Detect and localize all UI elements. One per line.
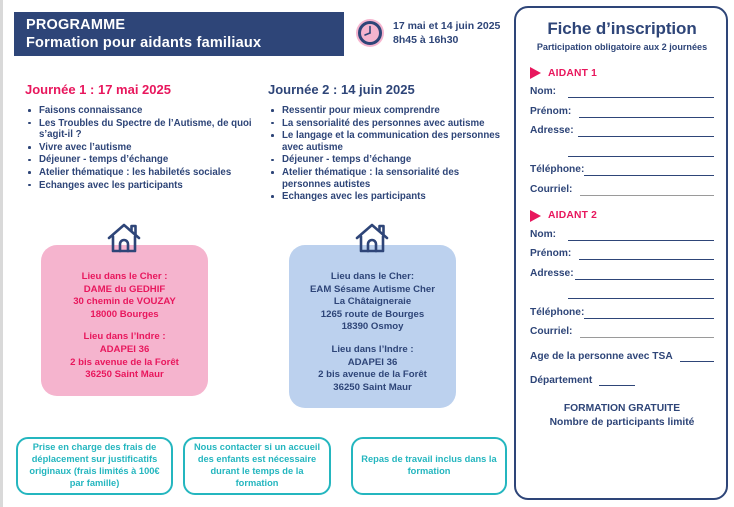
schedule-text: 17 mai et 14 juin 2025 8h45 à 16h30 [393,19,500,47]
form-subtitle: Participation obligatoire aux 2 journées [530,41,714,53]
location-line: 18000 Bourges [47,309,202,322]
field-label: Prénom: [530,106,571,118]
list-item: Atelier thématique : la sensorialité des… [268,167,504,190]
field-label: Age de la personne avec TSA [530,351,673,362]
list-item: Déjeuner - temps d’échange [268,154,504,166]
spacer [295,334,450,344]
house-icon [106,222,142,254]
form-footer-limited: Nombre de participants limité [530,416,714,430]
adresse-input-1-line2[interactable] [568,145,714,157]
location-line: Lieu dans l’Indre : [47,331,202,344]
location-line: 2 bis avenue de la Forêt [295,369,450,382]
prenom-input-2[interactable] [579,248,714,260]
field-telephone-2[interactable]: Téléphone: [530,307,714,319]
schedule-block: 17 mai et 14 juin 2025 8h45 à 16h30 [355,18,500,48]
location-line: 36250 Saint Maur [47,369,202,382]
nom-input-2[interactable] [568,229,714,241]
field-courriel-1[interactable]: Courriel: [530,184,714,196]
location-line: Lieu dans le Cher: [295,271,450,284]
note-text: Prise en charge des frais de déplacement… [18,442,171,489]
aidant-2-heading: AIDANT 2 [530,210,714,222]
list-item: Echanges avec les participants [25,180,261,192]
list-item: Faisons connaissance [25,105,261,117]
list-item: La sensorialité des personnes avec autis… [268,118,504,130]
nom-input-1[interactable] [568,86,714,98]
program-title-line2: Formation pour aidants familiaux [26,34,344,52]
location-line: Lieu dans le Cher : [47,271,202,284]
location-line: 2 bis avenue de la Forêt [47,357,202,370]
program-panel: PROGRAMME Formation pour aidants familia… [3,0,508,507]
aidant-2-label: AIDANT 2 [548,210,597,221]
list-item: Le langage et la communication des perso… [268,130,504,153]
day2-title: Journée 2 : 14 juin 2025 [268,82,504,98]
list-item: Ressentir pour mieux comprendre [268,105,504,117]
field-label: Courriel: [530,184,572,196]
field-label: Courriel: [530,326,572,338]
spacer [47,321,202,331]
field-label: Nom: [530,86,556,98]
location-line: La Châtaigneraie [295,296,450,309]
location-line: EAM Sésame Autisme Cher [295,284,450,297]
aidant-1-heading: AIDANT 1 [530,67,714,79]
triangle-right-icon [530,210,541,222]
field-label: Adresse: [530,125,574,137]
note-box-childcare: Nous contacter si un accueil des enfants… [183,437,331,495]
age-tsa-input[interactable] [680,350,714,362]
day2-column: Journée 2 : 14 juin 2025 Ressentir pour … [268,82,504,204]
field-prenom-1[interactable]: Prénom: [530,106,714,118]
telephone-input-2[interactable] [584,307,714,319]
adresse-input-2-line2[interactable] [568,287,714,299]
day1-agenda-list: Faisons connaissance Les Troubles du Spe… [25,105,261,191]
schedule-hours: 8h45 à 16h30 [393,33,500,47]
field-age-tsa[interactable]: Age de la personne avec TSA [530,350,714,362]
prenom-input-1[interactable] [579,106,714,118]
courriel-input-2[interactable] [580,326,714,338]
field-departement[interactable]: Département [530,374,714,386]
field-courriel-2[interactable]: Courriel: [530,326,714,338]
location-line: ADAPEI 36 [295,357,450,370]
field-label: Département [530,375,592,386]
house-icon [354,222,390,254]
schedule-dates: 17 mai et 14 juin 2025 [393,19,500,33]
list-item: Echanges avec les participants [268,191,504,203]
location-line: DAME du GEDHIF [47,284,202,297]
location-line: Lieu dans l’Indre : [295,344,450,357]
clock-icon [355,18,385,48]
program-title-line1: PROGRAMME [26,17,344,34]
field-label: Nom: [530,229,556,241]
location-line: 18390 Osmoy [295,321,450,334]
note-text: Nous contacter si un accueil des enfants… [185,442,329,489]
location-line: 36250 Saint Maur [295,382,450,395]
list-item: Déjeuner - temps d’échange [25,154,261,166]
field-label: Adresse: [530,268,574,280]
triangle-right-icon [530,67,541,79]
list-item: Atelier thématique : les habiletés socia… [25,167,261,179]
field-label: Téléphone: [530,164,584,176]
location-line: 1265 route de Bourges [295,309,450,322]
day2-agenda-list: Ressentir pour mieux comprendre La senso… [268,105,504,203]
list-item: Vivre avec l’autisme [25,142,261,154]
field-adresse-1[interactable]: Adresse: [530,125,714,137]
list-item: Les Troubles du Spectre de l’Autisme, de… [25,118,261,141]
field-label: Téléphone: [530,307,584,319]
form-title: Fiche d’inscription [530,18,714,40]
field-label: Prénom: [530,248,571,260]
poster-root: PROGRAMME Formation pour aidants familia… [0,0,734,507]
day1-title: Journée 1 : 17 mai 2025 [25,82,261,98]
registration-form-panel: Fiche d’inscription Participation obliga… [514,6,728,500]
field-nom-1[interactable]: Nom: [530,86,714,98]
departement-input[interactable] [599,374,635,386]
aidant-1-label: AIDANT 1 [548,68,597,79]
location-line: ADAPEI 36 [47,344,202,357]
field-telephone-1[interactable]: Téléphone: [530,164,714,176]
field-nom-2[interactable]: Nom: [530,229,714,241]
courriel-input-1[interactable] [580,184,714,196]
day1-column: Journée 1 : 17 mai 2025 Faisons connaiss… [25,82,261,192]
note-text: Repas de travail inclus dans la formatio… [353,454,505,478]
day2-location-box: Lieu dans le Cher: EAM Sésame Autisme Ch… [289,245,456,408]
telephone-input-1[interactable] [584,164,714,176]
form-footer-free: FORMATION GRATUITE [530,402,714,416]
location-line: 30 chemin de VOUZAY [47,296,202,309]
program-header-bar: PROGRAMME Formation pour aidants familia… [14,12,344,56]
adresse-input-1[interactable] [578,125,714,137]
field-prenom-2[interactable]: Prénom: [530,248,714,260]
note-box-travel-expenses: Prise en charge des frais de déplacement… [16,437,173,495]
field-adresse-2[interactable]: Adresse: [530,268,714,280]
note-box-meals: Repas de travail inclus dans la formatio… [351,437,507,495]
day1-location-box: Lieu dans le Cher : DAME du GEDHIF 30 ch… [41,245,208,396]
adresse-input-2[interactable] [575,268,714,280]
